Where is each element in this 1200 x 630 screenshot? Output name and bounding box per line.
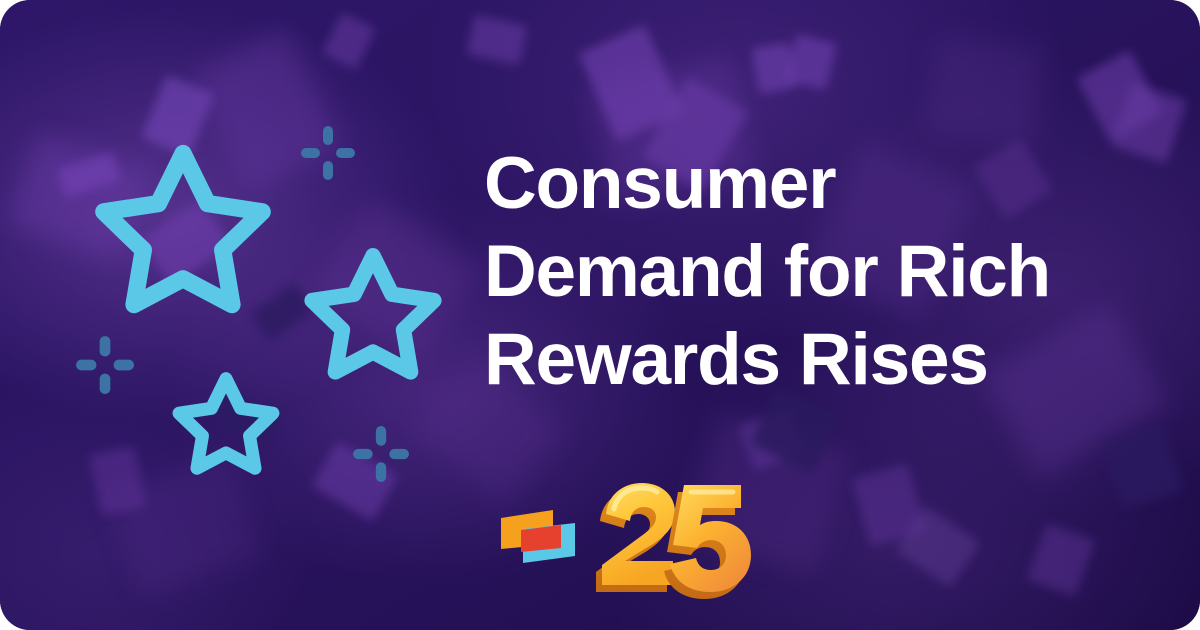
confetti-piece xyxy=(89,446,147,516)
star-small xyxy=(172,372,280,476)
confetti-piece xyxy=(322,12,376,70)
logo-lockup xyxy=(498,473,742,598)
headline-text: Consumer Demand for Rich Rewards Rises xyxy=(484,140,1164,404)
promo-card: Consumer Demand for Rich Rewards Rises xyxy=(0,0,1200,630)
confetti-piece xyxy=(1100,422,1183,510)
confetti-piece xyxy=(785,34,837,91)
three-panel-logo-mark-icon xyxy=(498,501,578,571)
confetti-piece xyxy=(1026,523,1095,597)
sparkle-plus-icon xyxy=(300,125,356,181)
sparkle-plus-icon xyxy=(75,335,135,395)
anniversary-25-number xyxy=(592,473,742,598)
confetti-piece xyxy=(466,15,527,65)
star-large xyxy=(92,142,274,318)
sparkle-plus-icon xyxy=(352,425,410,483)
star-medium xyxy=(303,247,443,382)
